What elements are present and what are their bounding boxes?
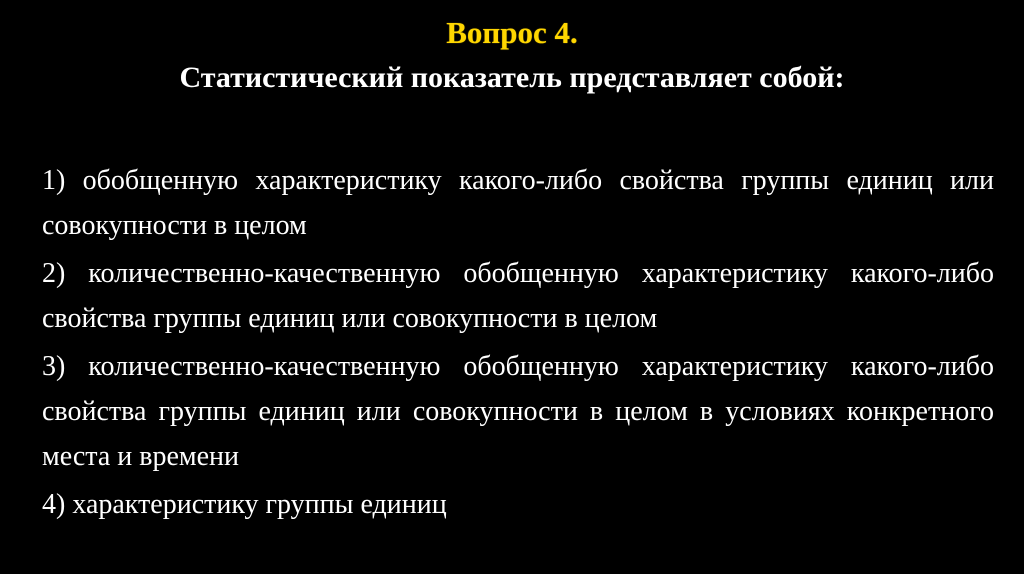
question-prompt: Статистический показатель представляет с… [0,58,1024,98]
page-title: Вопрос 4. [0,14,1024,52]
slide-heading: Вопрос 4. Статистический показатель пред… [0,0,1024,98]
answer-option-4[interactable]: 4) характеристику группы единиц [42,482,994,527]
answer-option-2[interactable]: 2) количественно-качественную обобщенную… [42,251,994,341]
answer-option-3[interactable]: 3) количественно-качественную обобщенную… [42,344,994,479]
answer-option-1[interactable]: 1) обобщенную характеристику какого-либо… [42,158,994,248]
answer-options-list: 1) обобщенную характеристику какого-либо… [42,158,994,530]
presentation-slide: Вопрос 4. Статистический показатель пред… [0,0,1024,574]
